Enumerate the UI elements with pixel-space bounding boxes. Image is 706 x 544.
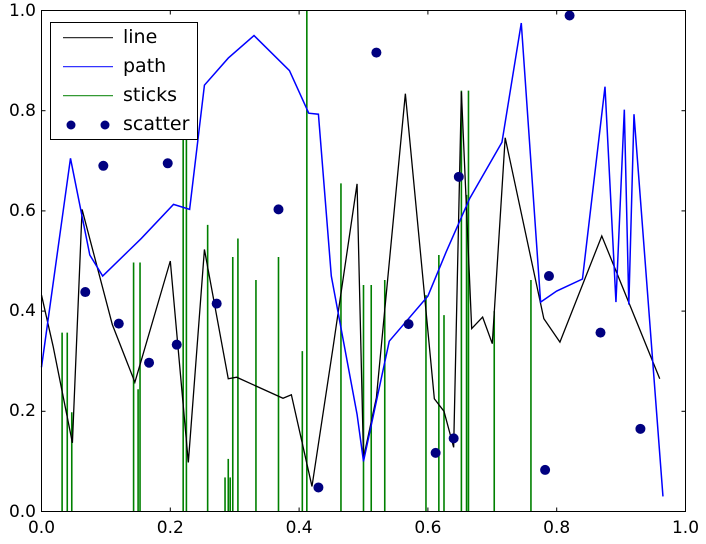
y-tick-label-5: 1.0 <box>0 1 36 21</box>
scatter-point-7 <box>273 204 283 214</box>
scatter-point-10 <box>404 319 414 329</box>
scatter-point-3 <box>144 358 154 368</box>
legend-item-line[interactable]: line <box>51 23 197 52</box>
scatter-point-14 <box>540 465 550 475</box>
scatter-point-4 <box>163 158 173 168</box>
y-tick-label-2: 0.4 <box>0 301 36 321</box>
scatter-point-1 <box>98 161 108 171</box>
x-tick-label-4: 0.8 <box>543 518 570 538</box>
scatter-point-5 <box>172 340 182 350</box>
x-tick-label-5: 1.0 <box>672 518 699 538</box>
scatter-point-13 <box>454 172 464 182</box>
legend-label-scatter: scatter <box>123 115 189 134</box>
y-tick-label-1: 0.2 <box>0 401 36 421</box>
y-tick-label-0: 0.0 <box>0 502 36 522</box>
y-tick-label-3: 0.6 <box>0 201 36 221</box>
legend-item-path[interactable]: path <box>51 52 197 81</box>
scatter-point-18 <box>635 424 645 434</box>
legend-swatch-scatter-icon <box>59 114 117 136</box>
legend-item-sticks[interactable]: sticks <box>51 81 197 110</box>
legend-label-sticks: sticks <box>123 86 177 105</box>
x-tick-label-2: 0.4 <box>286 518 313 538</box>
chart-legend[interactable]: line path sticks scatter <box>50 22 198 140</box>
scatter-point-11 <box>431 448 441 458</box>
scatter-point-0 <box>80 287 90 297</box>
x-tick-label-3: 0.6 <box>414 518 441 538</box>
scatter-point-16 <box>565 11 575 21</box>
figure-container: 0.00.20.40.60.81.0 0.00.20.40.60.81.0 li… <box>0 0 706 544</box>
scatter-point-15 <box>544 271 554 281</box>
legend-label-line: line <box>123 28 157 47</box>
legend-label-path: path <box>123 57 166 76</box>
legend-swatch-sticks-icon <box>59 85 117 107</box>
scatter-point-12 <box>449 433 459 443</box>
scatter-point-2 <box>114 319 124 329</box>
scatter-point-6 <box>212 299 222 309</box>
legend-swatch-path-icon <box>59 56 117 78</box>
legend-item-scatter[interactable]: scatter <box>51 110 197 139</box>
scatter-point-17 <box>595 328 605 338</box>
x-tick-label-1: 0.2 <box>157 518 184 538</box>
scatter-point-8 <box>313 482 323 492</box>
legend-swatch-line-icon <box>59 27 117 49</box>
y-tick-label-4: 0.8 <box>0 101 36 121</box>
scatter-point-9 <box>371 48 381 58</box>
